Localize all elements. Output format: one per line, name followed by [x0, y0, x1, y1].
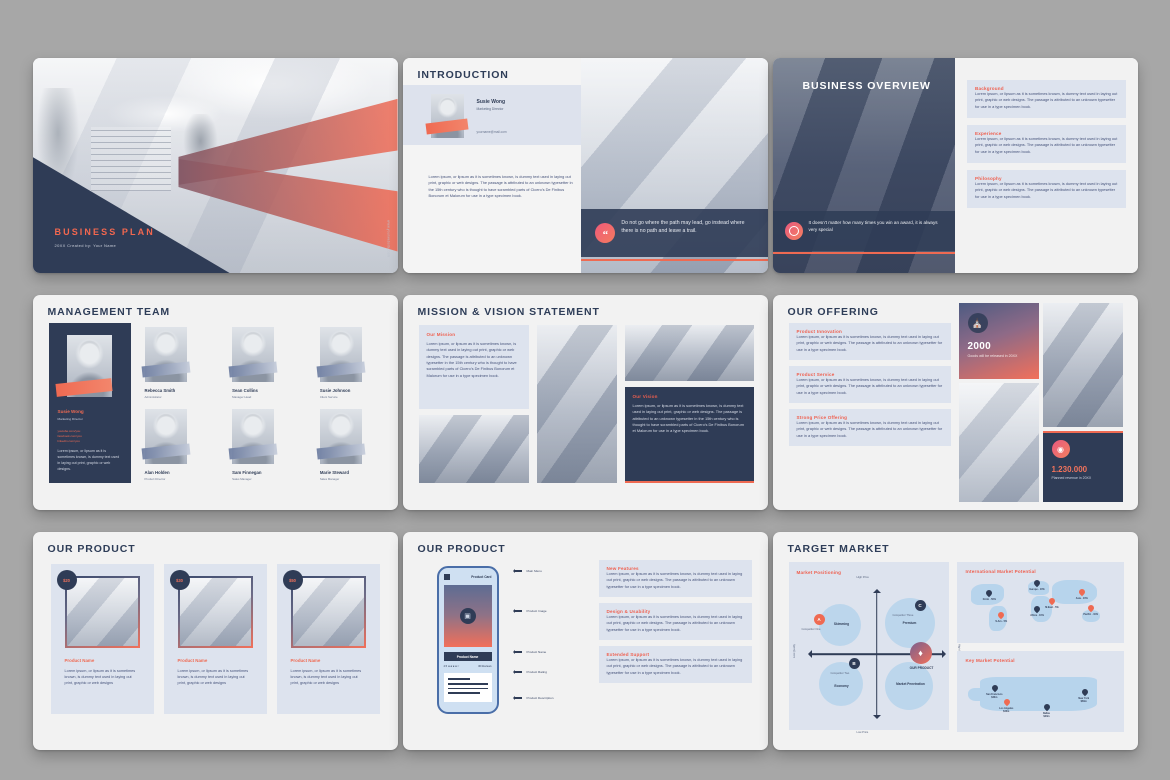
quadrant-label-market-penetration: Market Penetration: [893, 682, 929, 686]
section-heading: Our Vision: [633, 394, 746, 399]
slide-mission-vision[interactable]: MISSION & VISION STATEMENT Our Mission L…: [403, 295, 768, 510]
international-market-panel[interactable]: International Market Potential N.Am - 50…: [957, 562, 1124, 643]
feature-section[interactable]: New Features Lorem ipsum, or lipsum as i…: [599, 560, 752, 597]
vision-photo: [625, 325, 754, 381]
rating-stars: 4.5 ★★★★☆: [444, 665, 460, 668]
team-member[interactable]: Rebecca Smith Administrator: [145, 327, 209, 399]
pin-label: N.Am - 50%: [975, 598, 1003, 601]
map-pin[interactable]: M.East - 5%: [1049, 598, 1055, 606]
avatar: [320, 409, 362, 464]
axis-arrow-right: [942, 650, 950, 658]
section-text: Lorem ipsum, or lipsum as it is sometime…: [797, 377, 943, 396]
overview-sections: Background Lorem ipsum, or lipsum as it …: [955, 58, 1138, 273]
intro-paragraph: Lorem ipsum, or lipsum as it is sometime…: [429, 174, 574, 199]
product-description: Lorem ipsum, or lipsum as it is sometime…: [65, 668, 140, 686]
vision-panel[interactable]: Our Vision Lorem ipsum, or lipsum as it …: [625, 387, 754, 483]
quadrant-label-premium: Premium: [895, 621, 925, 625]
member-role: Manager Head: [232, 395, 296, 399]
social-links[interactable]: youtube.com/you facebook.com/you linkedi…: [58, 429, 82, 443]
map-pin-dallas[interactable]: Dallas$20m: [1044, 704, 1050, 712]
reviews-count: 30 Reviews: [478, 665, 491, 668]
slide-management-team[interactable]: MANAGEMENT TEAM Susie Wong Marketing Dir…: [33, 295, 398, 510]
price-badge: $50: [283, 570, 303, 590]
quadrant-label-skimming: Skimming: [827, 622, 857, 626]
social-link-facebook[interactable]: facebook.com/you: [58, 434, 82, 439]
intro-photo: “ Do not go where the path may lead, go …: [581, 58, 767, 273]
avatar: [145, 409, 187, 464]
accent-slab: [229, 362, 278, 378]
pin-label: Europe - 10%: [1023, 588, 1051, 591]
offering-photo-2: [1043, 303, 1123, 427]
product-name: Product Name: [65, 658, 140, 663]
section-text: Lorem ipsum, or lipsum as it is sometime…: [975, 91, 1118, 110]
avatar: [320, 327, 362, 382]
axis-label-low-quality: Low Quality: [793, 644, 796, 658]
accent-line: [773, 252, 956, 254]
section-text: Lorem ipsum, or lipsum as it is sometime…: [607, 657, 744, 676]
price-badge: $30: [170, 570, 190, 590]
competitor-label-three: Competitor Three: [893, 614, 914, 617]
slide-target-market[interactable]: TARGET MARKET Market Positioning Skimmin…: [773, 532, 1138, 750]
map-pin[interactable]: N.Am - 50%: [986, 590, 992, 598]
section-text: Lorem ipsum, or lipsum as it is sometime…: [427, 341, 521, 379]
page-title: BUSINESS OVERVIEW: [788, 69, 931, 92]
section-text: Lorem ipsum, or lipsum as it is sometime…: [607, 614, 744, 633]
avatar: [145, 327, 187, 382]
slide-product-mobile[interactable]: OUR PRODUCT Product Card ▣ Product Name …: [403, 532, 768, 750]
phone-header-title: Product Card: [471, 575, 491, 579]
lead-member-card[interactable]: Susie Wong Marketing Director youtube.co…: [49, 323, 131, 483]
competitor-marker-a[interactable]: A: [814, 614, 825, 625]
offering-photo-1: [959, 383, 1039, 502]
map-pin-san-francisco[interactable]: San Francisco$30m: [992, 685, 998, 693]
arrow-left-icon: [511, 609, 522, 613]
phone-header: Product Card: [444, 574, 492, 580]
phone-description-block: [444, 673, 492, 702]
product-frame: [291, 576, 366, 648]
product-feature-sections: New Features Lorem ipsum, or lipsum as i…: [599, 560, 752, 689]
page-title: OUR PRODUCT: [403, 532, 768, 555]
positioning-chart: Skimming Premium Economy Market Penetrat…: [805, 586, 949, 722]
member-name: Sean Collins: [232, 388, 296, 393]
cover-website: www.yourwebsite.com: [387, 220, 391, 257]
phone-product-name: Product Name: [444, 652, 492, 661]
intro-left-column: INTRODUCTION Susie Wong Marketing Direct…: [403, 58, 582, 273]
offering-section[interactable]: Product Innovation Lorem ipsum, or lipsu…: [789, 323, 951, 360]
award-icon: [785, 222, 803, 240]
slide-business-overview[interactable]: BUSINESS OVERVIEW It doesn't matter how …: [773, 58, 1138, 273]
our-product-label: OUR PRODUCT: [903, 666, 941, 670]
arrow-left-icon: [511, 650, 522, 654]
section-text: Lorem ipsum, or lipsum as it is sometime…: [607, 571, 744, 590]
price-badge: $20: [57, 570, 77, 590]
stars-icon: ★★★★☆: [448, 665, 460, 668]
product-name: Product Name: [178, 658, 253, 663]
team-member[interactable]: Sam Finnegan Sales Manager: [232, 409, 296, 481]
rating-value: 4.5: [444, 665, 448, 668]
center-photo: [537, 325, 617, 483]
feature-section[interactable]: Extended Support Lorem ipsum, or lipsum …: [599, 646, 752, 683]
member-name: Alan Holden: [145, 470, 209, 475]
annotation-main-menu: Main Menu: [511, 569, 542, 573]
annotation-label: Product Description: [527, 696, 554, 700]
stat-caption: Planned revenue in 20XX: [1052, 476, 1114, 481]
key-market-panel[interactable]: Key Market Potential San Francisco$30m L…: [957, 651, 1124, 732]
offering-sections: Product Innovation Lorem ipsum, or lipsu…: [789, 323, 951, 452]
mission-panel[interactable]: Our Mission Lorem ipsum, or lipsum as it…: [419, 325, 529, 409]
section-text: Lorem ipsum, or lipsum as it is sometime…: [797, 334, 943, 353]
axis-label-high-price: High Price: [857, 576, 869, 579]
stat-card-revenue[interactable]: ◉ 1.230.000 Planned revenue in 20XX: [1043, 431, 1123, 502]
accent-slab: [141, 362, 190, 378]
map-asia: [1052, 580, 1097, 604]
pin-label: M.East - 5%: [1038, 606, 1066, 609]
page-title: TARGET MARKET: [773, 532, 1138, 555]
team-member[interactable]: Marie Steward Sales Manager: [320, 409, 384, 481]
accent-line: [581, 259, 767, 262]
avatar: [431, 94, 464, 138]
overview-section[interactable]: Background Lorem ipsum, or lipsum as it …: [967, 80, 1126, 118]
accent-line: [1043, 431, 1123, 433]
axis-arrow-up: [873, 585, 881, 593]
arrow-left-icon: [511, 569, 522, 573]
section-text: Lorem ipsum, or lipsum as it is sometime…: [975, 136, 1118, 155]
phone-product-image: ▣: [444, 585, 492, 647]
member-name: Susie Johnson: [320, 388, 384, 393]
team-member[interactable]: Susie Johnson Client Service: [320, 327, 384, 399]
page-title: MANAGEMENT TEAM: [33, 295, 398, 318]
person-role: Marketing Director: [477, 107, 504, 111]
competitor-label-one: Competitor One: [802, 628, 821, 631]
annotation-product-rating: Product Rating: [511, 670, 547, 674]
market-maps-column: International Market Potential N.Am - 50…: [957, 562, 1124, 740]
arrow-left-icon: [511, 696, 522, 700]
quote-panel: “ Do not go where the path may lead, go …: [581, 209, 767, 257]
map-pin-new-york[interactable]: New York$60m: [1082, 689, 1088, 697]
overview-section[interactable]: Philosophy Lorem ipsum, or lipsum as it …: [967, 170, 1126, 208]
member-name: Rebecca Smith: [145, 388, 209, 393]
market-positioning-panel[interactable]: Market Positioning Skimming Premium Econ…: [789, 562, 949, 730]
member-role: Product Director: [145, 477, 209, 481]
product-card[interactable]: $50 Product Name Lorem ipsum, or lipsum …: [277, 564, 380, 714]
pin-label: S.Am - 5%: [987, 620, 1015, 623]
offering-section[interactable]: Strong Price Offering Lorem ipsum, or li…: [789, 409, 951, 446]
text-line: [448, 688, 488, 690]
product-image: [67, 578, 138, 646]
accent-slab: [229, 444, 278, 460]
product-frame: [178, 576, 253, 648]
pin-value: $60m: [1081, 700, 1087, 703]
person-name: Susie Wong: [477, 99, 506, 105]
annotation-label: Product Name: [527, 650, 547, 654]
hamburger-menu-icon[interactable]: [444, 574, 450, 580]
section-heading: Our Mission: [427, 332, 521, 337]
overview-section[interactable]: Experience Lorem ipsum, or lipsum as it …: [967, 125, 1126, 163]
section-text: Lorem ipsum, or lipsum as it is sometime…: [975, 181, 1118, 200]
team-member[interactable]: Sean Collins Manager Head: [232, 327, 296, 399]
page-title: INTRODUCTION: [403, 58, 582, 81]
pin-label: Africa - 10%: [1023, 614, 1051, 617]
member-description: Lorem ipsum, or lipsum as it is sometime…: [58, 449, 122, 473]
quadrant-label-economy: Economy: [827, 684, 857, 688]
pin-value: $20m: [1043, 715, 1049, 718]
product-name: Product Name: [291, 658, 366, 663]
team-member[interactable]: Alan Holden Product Director: [145, 409, 209, 481]
text-line: [448, 678, 470, 680]
annotation-label: Product Rating: [527, 670, 547, 674]
quote-text: Do not go where the path may lead, go in…: [621, 220, 757, 235]
overview-photo: BUSINESS OVERVIEW It doesn't matter how …: [773, 58, 956, 273]
pin-value: $40m: [1003, 710, 1009, 713]
world-map: N.Am - 50% Europe - 10% Asia - 10% M.Eas…: [966, 574, 1115, 636]
slide-deck: BUSINESS PLAN 20XX Created by: Your Name…: [0, 0, 1170, 780]
target-icon: ◉: [1052, 440, 1070, 458]
competitor-marker-c[interactable]: C: [915, 600, 926, 611]
phone-annotations: Main Menu Product Image Product Name Pro…: [511, 566, 589, 714]
offering-section[interactable]: Product Service Lorem ipsum, or lipsum a…: [789, 366, 951, 403]
map-pin[interactable]: Asia - 10%: [1079, 589, 1085, 597]
accent-slab: [141, 444, 190, 460]
map-pin[interactable]: Europe - 10%: [1034, 580, 1040, 588]
feature-section[interactable]: Design & Usability Lorem ipsum, or lipsu…: [599, 603, 752, 640]
image-placeholder-icon: ▣: [460, 608, 476, 624]
annotation-label: Product Image: [527, 609, 547, 613]
our-product-diamond-icon[interactable]: ♦: [910, 642, 932, 664]
product-card[interactable]: $30 Product Name Lorem ipsum, or lipsum …: [164, 564, 267, 714]
member-role: Marketing Director: [58, 417, 83, 421]
slide-our-offering[interactable]: OUR OFFERING Product Innovation Lorem ip…: [773, 295, 1138, 510]
section-text: Lorem ipsum, or lipsum as it is sometime…: [633, 403, 746, 435]
product-frame: [65, 576, 140, 648]
intro-person-card: [403, 85, 582, 145]
competitor-marker-b[interactable]: B: [849, 658, 860, 669]
slide-our-product[interactable]: OUR PRODUCT $20 Product Name Lorem ipsum…: [33, 532, 398, 750]
arrow-left-icon: [511, 670, 522, 674]
phone-mockup[interactable]: Product Card ▣ Product Name 4.5 ★★★★☆ 30…: [437, 566, 499, 714]
product-card[interactable]: $20 Product Name Lorem ipsum, or lipsum …: [51, 564, 154, 714]
cover-title: BUSINESS PLAN: [55, 227, 155, 237]
bookshelf-decor: [91, 127, 171, 192]
text-line: [448, 692, 480, 694]
product-description: Lorem ipsum, or lipsum as it is sometime…: [178, 668, 253, 686]
accent-slab: [425, 118, 468, 134]
annotation-label: Main Menu: [527, 569, 542, 573]
page-title: OUR PRODUCT: [33, 532, 398, 555]
page-title: MISSION & VISION STATEMENT: [403, 295, 768, 318]
accent-line: [625, 481, 754, 483]
product-image: [180, 578, 251, 646]
mission-photo: [419, 415, 529, 483]
product-description: Lorem ipsum, or lipsum as it is sometime…: [291, 668, 366, 686]
section-heading: Market Positioning: [797, 570, 941, 575]
stat-value: 1.230.000: [1052, 465, 1114, 474]
social-link-linkedin[interactable]: linkedin.com/you: [58, 439, 82, 444]
text-line: [448, 683, 488, 685]
stat-card-goods[interactable]: ⛪ 2000 Goods will be released in 20XX: [959, 303, 1039, 379]
product-card-row: $20 Product Name Lorem ipsum, or lipsum …: [51, 564, 380, 714]
stat-caption: Goods will be released in 20XX: [968, 354, 1030, 359]
product-image: [293, 578, 364, 646]
member-name: Marie Steward: [320, 470, 384, 475]
section-text: Lorem ipsum, or lipsum as it is sometime…: [797, 420, 943, 439]
accent-slab: [316, 362, 365, 378]
member-name: Susie Wong: [58, 409, 84, 414]
accent-slab: [316, 444, 365, 460]
avatar: [232, 327, 274, 382]
quote-panel: It doesn't matter how many times you win…: [773, 211, 956, 251]
cover-subtitle: 20XX Created by: Your Name: [55, 243, 117, 248]
person-email[interactable]: yourname@mail.com: [477, 130, 507, 134]
usa-map: San Francisco$30m Los Angeles$40m Dallas…: [966, 663, 1115, 725]
stat-value: 2000: [968, 341, 1030, 352]
slide-cover[interactable]: BUSINESS PLAN 20XX Created by: Your Name…: [33, 58, 398, 273]
map-pin-los-angeles[interactable]: Los Angeles$40m: [1004, 699, 1010, 707]
factory-icon: ⛪: [968, 313, 988, 333]
annotation-product-description: Product Description: [511, 696, 554, 700]
team-grid: Rebecca Smith Administrator Sean Collins…: [145, 327, 384, 481]
map-pin[interactable]: S.Am - 5%: [998, 612, 1004, 620]
phone-rating-row: 4.5 ★★★★☆ 30 Reviews: [444, 665, 492, 668]
map-pin[interactable]: Africa - 10%: [1034, 606, 1040, 614]
axis-label-low-price: Low Price: [857, 731, 869, 734]
slide-introduction[interactable]: INTRODUCTION Susie Wong Marketing Direct…: [403, 58, 768, 273]
member-role: Sales Manager: [320, 477, 384, 481]
annotation-product-name: Product Name: [511, 650, 547, 654]
pin-label: Asia - 10%: [1068, 597, 1096, 600]
competitor-label-two: Competitor Two: [831, 672, 850, 675]
quote-text: It doesn't matter how many times you win…: [809, 220, 948, 234]
annotation-product-image: Product Image: [511, 609, 547, 613]
avatar: [232, 409, 274, 464]
quote-mark-icon: “: [595, 223, 615, 243]
pin-label: Pacific - 10%: [1077, 613, 1105, 616]
member-role: Client Service: [320, 395, 384, 399]
member-role: Sales Manager: [232, 477, 296, 481]
axis-arrow-left: [804, 650, 812, 658]
pin-value: $30m: [991, 696, 997, 699]
member-name: Sam Finnegan: [232, 470, 296, 475]
map-pin[interactable]: Pacific - 10%: [1088, 605, 1094, 613]
member-role: Administrator: [145, 395, 209, 399]
axis-arrow-down: [873, 715, 881, 723]
